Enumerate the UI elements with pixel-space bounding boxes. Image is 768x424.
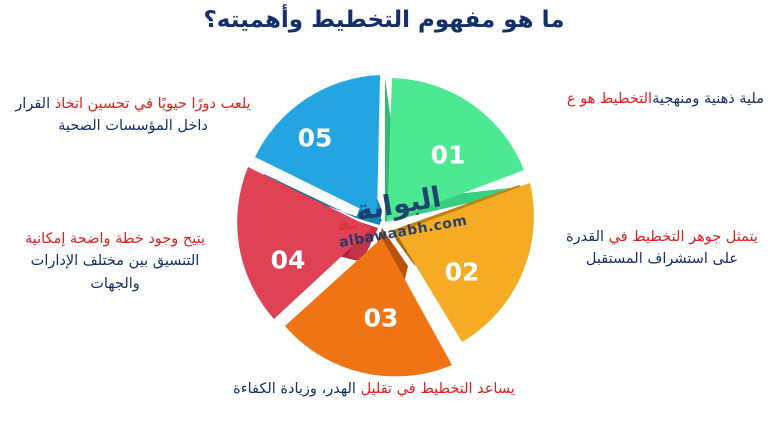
callout-label-02: يتمثل جوهر التخطيط في القدرة على استشراف… [560,226,764,271]
callout-05-red: يلعب دورًا حيويًا في تحسين اتخاذ [55,96,251,112]
pie-chart: 01 02 03 04 05 [230,70,530,370]
page-title: ما هو مفهوم التخطيط وأهميته؟ [0,6,768,35]
callout-label-03: يساعد التخطيط في تقليل الهدر، وزيادة الك… [188,378,560,400]
callout-label-01: ملية ذهنية ومنهجيةالتخطيط هو ع [508,88,764,110]
callout-03-navy: الهدر، وزيادة الكفاءة [233,381,356,397]
callout-02-red: يتمثل جوهر التخطيط في [609,229,758,245]
slice-label-03: 03 [364,304,399,333]
slice-label-04: 04 [271,246,306,275]
callout-01-navy: ملية ذهنية ومنهجية [652,91,764,107]
pie-chart-svg: 01 02 03 04 05 [230,70,530,370]
callout-label-04: يتيح وجود خطة واضحة إمكانية التنسيق بين … [4,228,226,295]
callout-04-navy: التنسيق بين مختلف الإدارات والجهات [31,253,200,291]
slice-label-05: 05 [298,124,333,153]
slice-label-01: 01 [431,141,466,170]
callout-01-red: التخطيط هو ع [567,91,652,107]
callout-label-05: يلعب دورًا حيويًا في تحسين اتخاذ القرار … [6,93,260,138]
callout-03-red: يساعد التخطيط في تقليل [361,381,515,397]
callout-04-red: يتيح وجود خطة واضحة إمكانية [25,231,205,247]
slice-label-02: 02 [445,258,480,287]
